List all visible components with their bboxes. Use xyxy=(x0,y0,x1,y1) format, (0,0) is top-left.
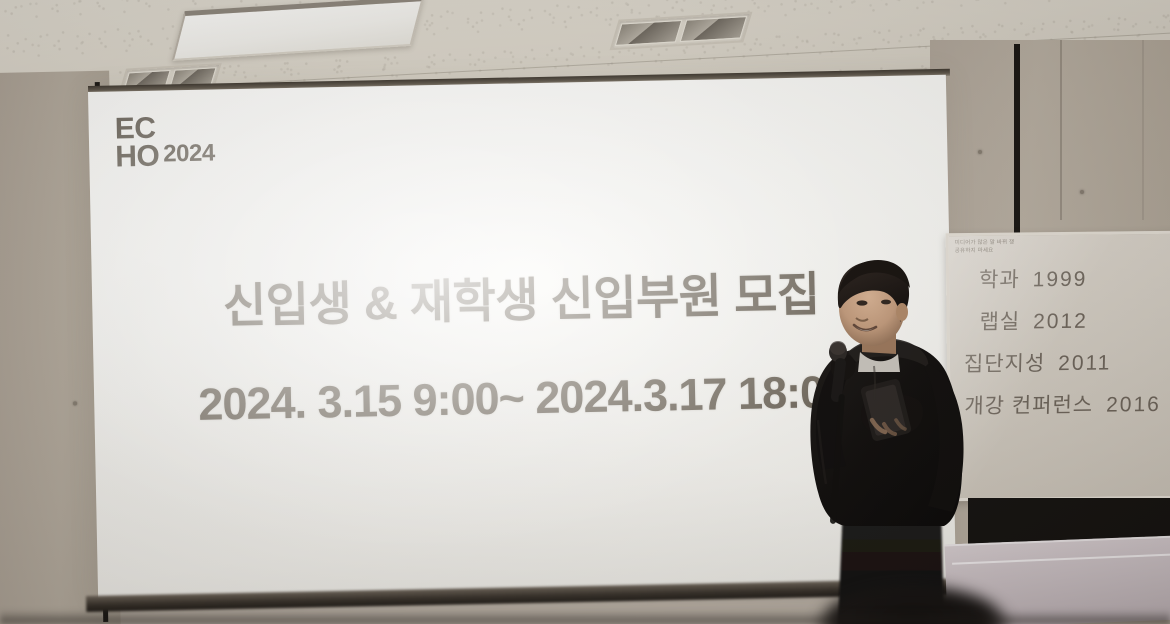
echo-logo: EC HO 2024 xyxy=(114,113,214,170)
projection-screen: EC HO 2024 신입생 & 재학생 신입부원 모집 2024. 3.15 … xyxy=(88,75,956,602)
lecture-hall-photo: EC HO 2024 신입생 & 재학생 신입부원 모집 2024. 3.15 … xyxy=(0,0,1170,624)
whiteboard-row-year: 2016 xyxy=(1106,393,1161,418)
whiteboard-note: 미디어가 많은 말 바뀌 쟁 공유하지 마세요 xyxy=(955,239,1015,256)
whiteboard-row-label: 집단지성 xyxy=(964,347,1046,378)
foreground-edge-shadow xyxy=(0,610,1170,624)
right-wall-gap xyxy=(1014,44,1020,244)
whiteboard-row-label: 랩실 xyxy=(979,305,1020,335)
whiteboard-row-label: 학과 xyxy=(979,263,1020,293)
slide-title: 신입생 & 재학생 신입부원 모집 xyxy=(92,253,951,339)
whiteboard-row: 랩실 2012 xyxy=(963,304,1170,336)
whiteboard-row: 학과 1999 xyxy=(963,262,1170,294)
whiteboard-row-year: 2012 xyxy=(1033,310,1088,335)
whiteboard-row-year: 2011 xyxy=(1058,352,1112,377)
whiteboard-row-year: 1999 xyxy=(1032,268,1087,293)
logo-line-2: HO xyxy=(115,142,160,170)
whiteboard-row: 집단지성 2011 xyxy=(964,346,1170,378)
whiteboard-row: 개강 컨퍼런스 2016 xyxy=(964,388,1170,420)
whiteboard-rows: 학과 1999 랩실 2012 집단지성 2011 개강 컨퍼런스 2016 xyxy=(963,262,1170,432)
whiteboard-row-label: 개강 컨퍼런스 xyxy=(964,389,1093,420)
slide-subtitle: 2024. 3.15 9:00~ 2024.3.17 18:00 xyxy=(94,364,953,433)
whiteboard: 미디어가 많은 말 바뀌 쟁 공유하지 마세요 학과 1999 랩실 2012 … xyxy=(946,231,1170,501)
logo-year: 2024 xyxy=(163,140,215,169)
slide: EC HO 2024 신입생 & 재학생 신입부원 모집 2024. 3.15 … xyxy=(88,75,956,602)
